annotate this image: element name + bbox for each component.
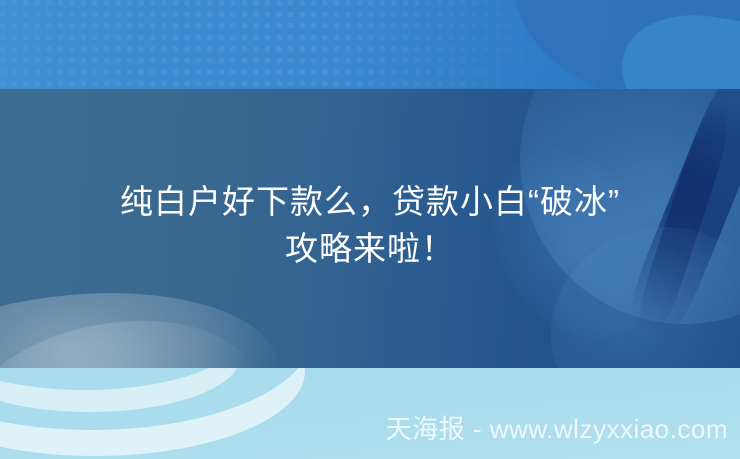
poster-title-line-2: 攻略来啦！ <box>0 225 740 272</box>
poster-title: 纯白户好下款么，贷款小白“破冰” 攻略来啦！ <box>0 178 740 272</box>
site-watermark: 天海报 - www.wlzyxxiao.com <box>386 412 728 446</box>
poster-title-line-1: 纯白户好下款么，贷款小白“破冰” <box>0 178 740 225</box>
top-banner-band <box>0 0 740 89</box>
dot-grid-texture <box>0 0 560 89</box>
poster-canvas: 纯白户好下款么，贷款小白“破冰” 攻略来啦！ 天海报 - www.wlzyxxi… <box>0 0 740 459</box>
